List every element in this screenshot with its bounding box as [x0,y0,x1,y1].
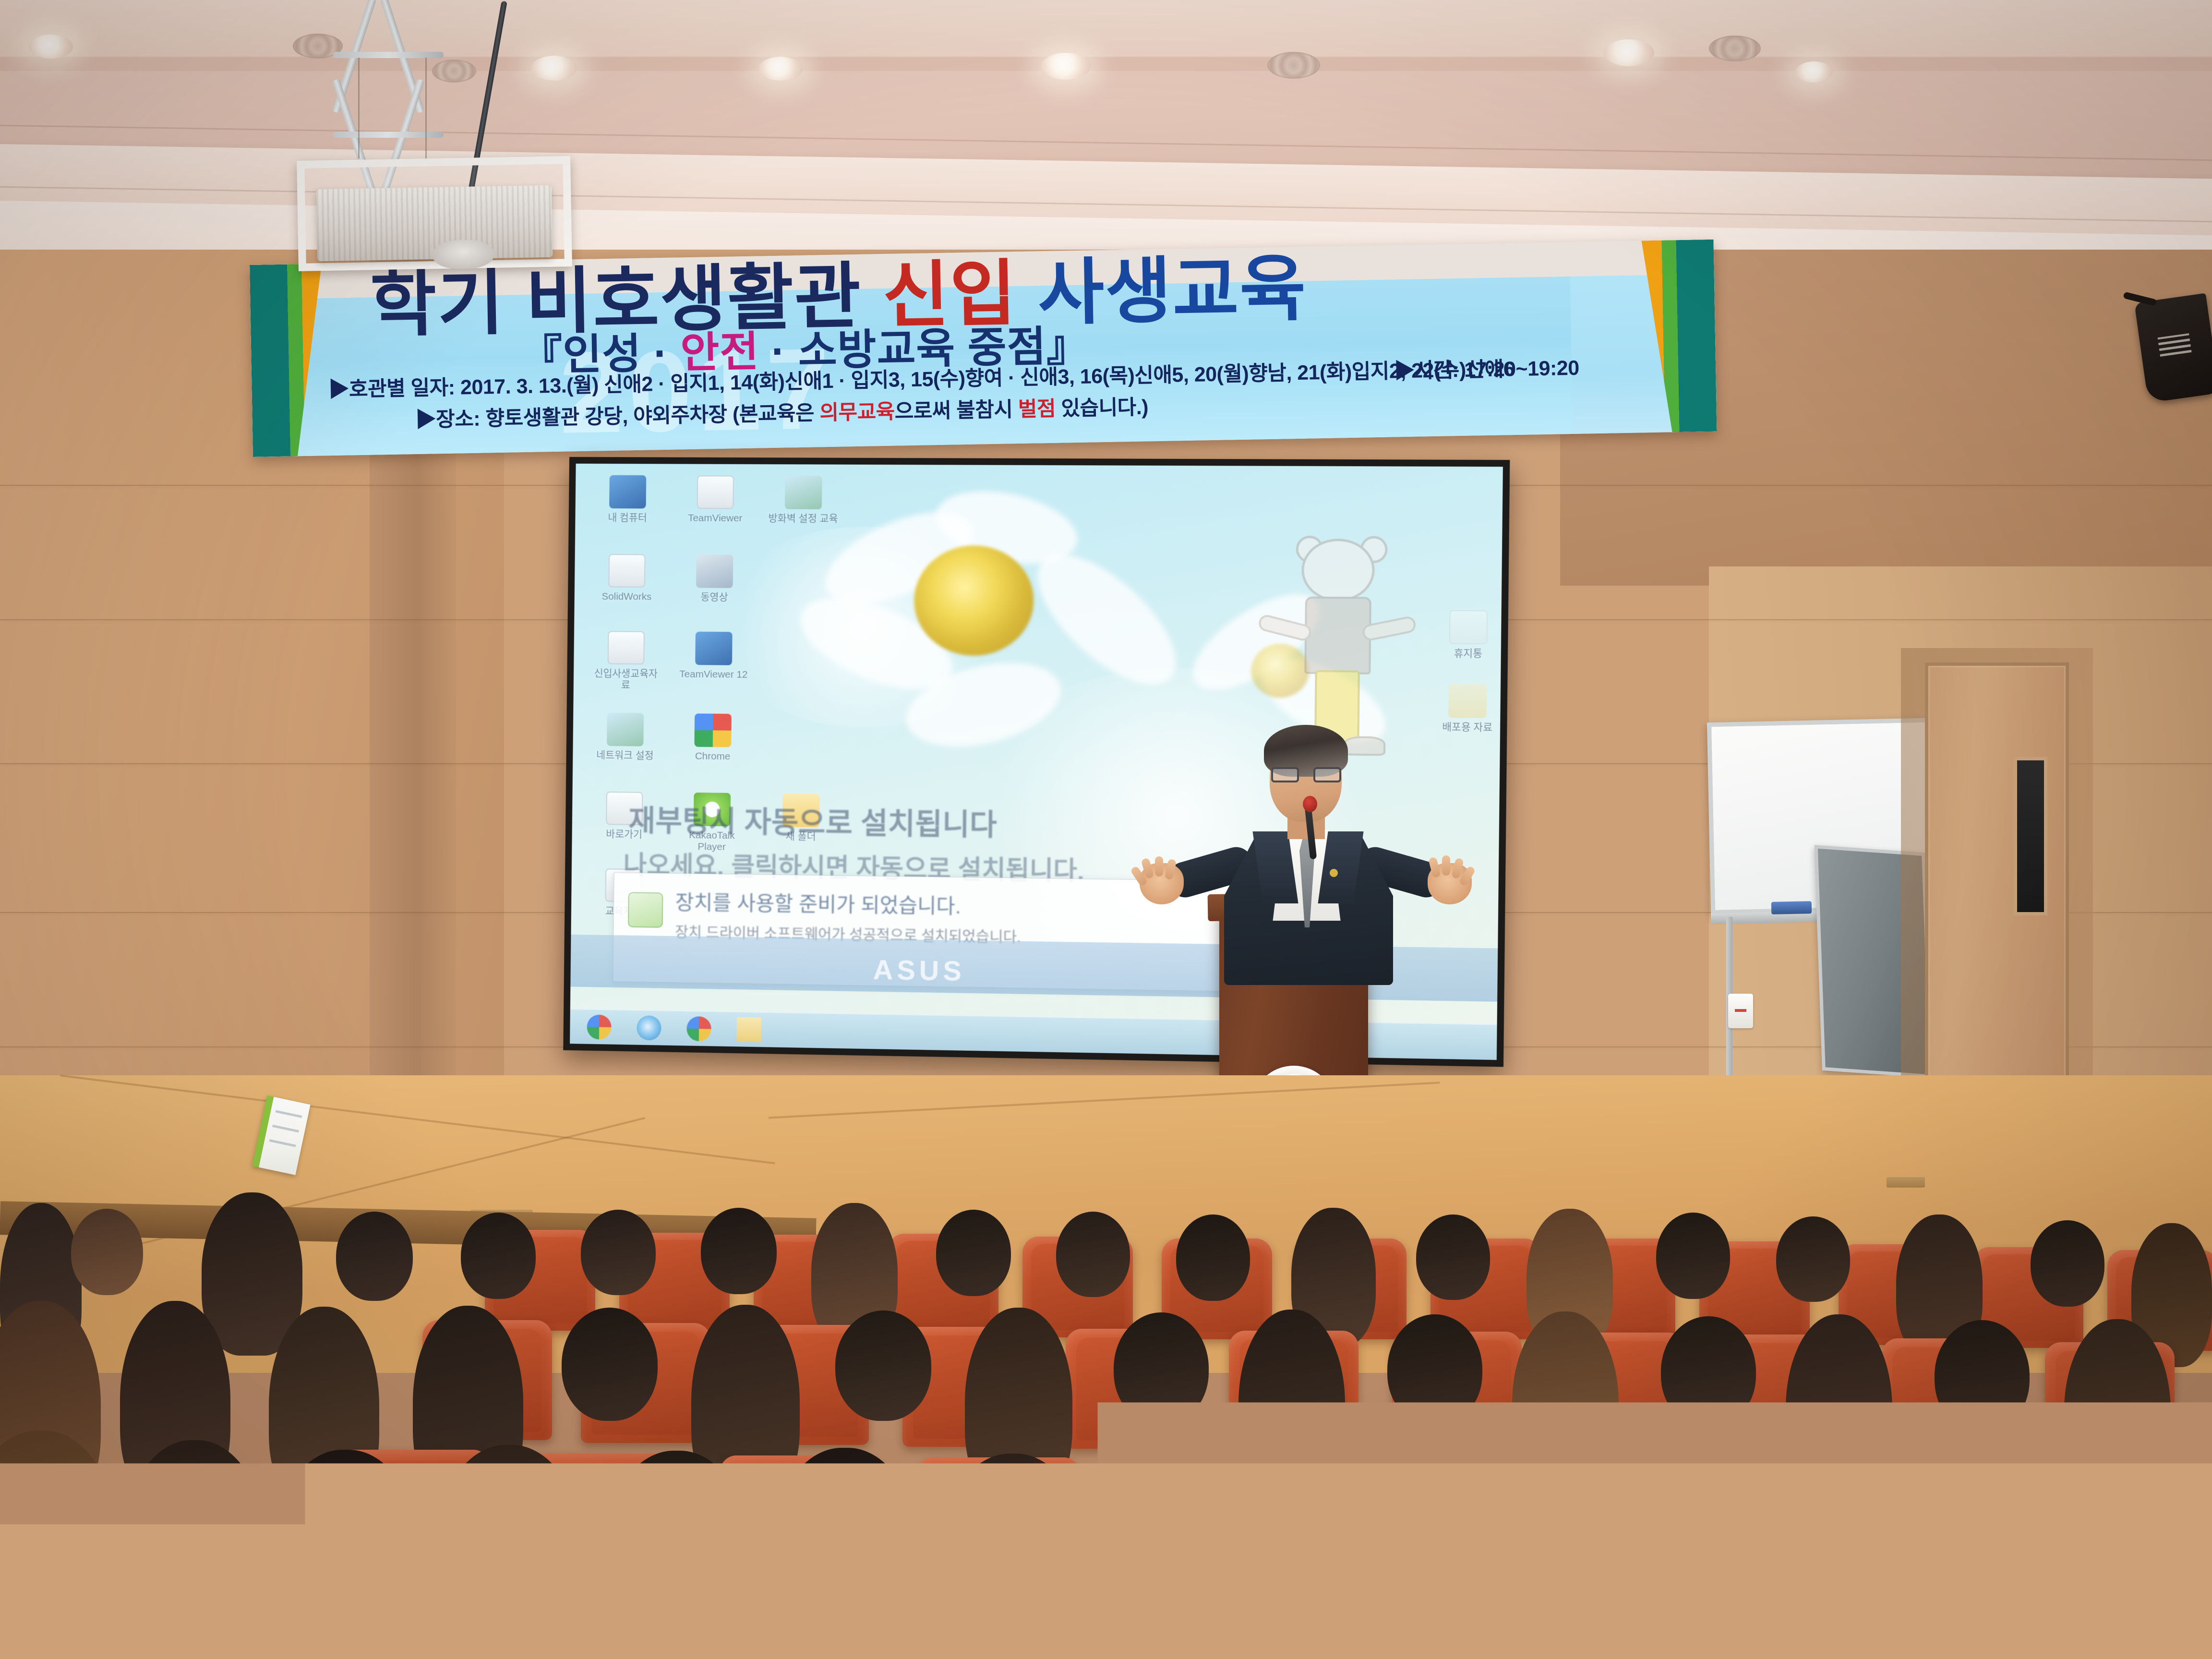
desktop-icon[interactable]: 방화벽 설정 교육 [768,476,839,525]
desktop-icon-label: 방화벽 설정 교육 [768,513,839,524]
downlight-icon [758,57,803,81]
start-orb-icon[interactable] [587,1014,611,1039]
audience-head [71,1209,143,1295]
recycle-bin-icon [1449,610,1488,644]
auditorium-photo: 2017 학기 비호생활관 신입 사생교육 『인성 · 안전 · 소방교육 중점… [0,0,2212,1659]
exit-door[interactable] [1925,662,2069,1094]
finger [1155,856,1163,877]
teamviewer12-icon [695,632,732,665]
place-red-penalty: 벌점 [1018,397,1056,421]
desktop-icon-label: Chrome [677,750,748,762]
desktop-icon-label: 신입사생교육자료 [590,668,661,691]
bear-body [1304,597,1371,674]
desktop-icon-label: 네트워크 설정 [589,749,660,761]
projector-lens-icon [432,240,494,269]
door-viewport-window [2014,757,2047,915]
audience-head [1176,1214,1250,1301]
audience-head [2031,1220,2104,1307]
chrome-taskbar-icon[interactable] [686,1016,711,1041]
glasses-lens [1271,767,1299,782]
brand-watermark: ASUS [873,954,965,987]
scissor-crossbar [333,132,444,138]
audience-head [701,1208,777,1294]
downlight-icon [1795,61,1833,83]
file-explorer-icon[interactable] [737,1017,762,1043]
audience-head [1114,1457,1243,1606]
desktop-icon-right[interactable]: 배포용 자료 [1431,684,1503,733]
event-banner: 2017 학기 비호생활관 신입 사생교육 『인성 · 안전 · 소방교육 중점… [250,240,1717,457]
desktop-icon[interactable]: 신입사생교육자료 [590,631,661,691]
air-diffuser-icon [1709,36,1761,61]
audience-head [936,1210,1011,1296]
desktop-icon[interactable]: 동영상 [679,554,750,603]
desktop-icon[interactable]: SolidWorks [591,554,662,602]
desktop-icon[interactable]: TeamViewer [680,475,751,524]
finger [1442,855,1450,876]
scissor-crossbar [333,52,444,58]
desktop-icon-label: 배포용 자료 [1431,721,1503,733]
wall-speaker-icon [2134,293,2212,403]
ceiling-band-shadow [0,57,2212,71]
bear-head [1301,539,1375,602]
internet-explorer-icon[interactable] [637,1015,661,1040]
desktop-icon[interactable]: 네트워크 설정 [589,712,661,761]
screen-headline: 재부팅시 자동으로 설치됩니다 [628,796,997,844]
presenter-hand-right [1428,863,1472,904]
audience-head [1935,1320,2030,1431]
suspension-wire [358,58,360,158]
audience-head [1056,1212,1130,1297]
network-settings-icon [607,713,644,746]
desktop-icon-label: 내 컴퓨터 [592,512,663,524]
downlight-icon [29,35,73,59]
audience-head [336,1212,413,1301]
place-red-mandatory: 의무교육 [819,400,895,425]
banner-time-line: ▶시간: 17:20~19:20 [1394,351,1579,385]
audience-head [1776,1216,1850,1302]
firewall-doc-icon [785,476,822,509]
audience-head [581,1210,656,1295]
place-suffix: 있습니다.) [1056,396,1149,420]
orientation-material-icon [608,631,645,664]
presenter-hand-left [1140,863,1184,904]
audience-head [461,1213,536,1299]
audience-head [1656,1213,1730,1299]
desktop-icon-right[interactable]: 휴지통 [1431,610,1503,660]
video-folder-icon [696,554,733,588]
my-computer-icon [609,475,646,509]
presenter-lapel-pin-icon [1330,869,1338,877]
light-switch[interactable] [1728,994,1753,1028]
dialog-device-icon [628,892,663,927]
desktop-icon-label: SolidWorks [591,591,662,602]
speaker-grille [2158,333,2192,357]
suspension-wire [425,58,427,158]
downlight-icon [1041,53,1091,80]
audience-head [562,1308,658,1421]
audience-head [1387,1314,1482,1425]
desktop-icon-label: 동영상 [679,591,750,603]
glasses-lens [1313,767,1341,782]
desktop-icon-label: TeamViewer [680,513,751,524]
presenter [1186,710,1435,1008]
desktop-icon[interactable]: 내 컴퓨터 [592,475,663,524]
desktop-icon-label: 휴지통 [1431,648,1503,660]
audience-head [1416,1214,1490,1300]
audience-head [1114,1312,1209,1424]
chrome-icon [694,713,731,747]
teamviewer-icon [697,475,734,509]
audience-area [0,1094,2212,1659]
downlight-icon [1603,39,1654,66]
audience-head [1661,1316,1756,1427]
daisy-center [914,545,1034,656]
solidworks-icon [608,554,645,588]
whiteboard-eraser-icon[interactable] [1771,901,1812,914]
air-diffuser-icon [1267,52,1320,79]
desktop-icon[interactable]: Chrome [677,713,749,762]
audience-head [835,1310,931,1421]
distribution-folder-icon [1448,684,1487,718]
desktop-icon[interactable]: TeamViewer 12 [678,632,749,681]
glasses-icon [1271,767,1342,783]
microphone-windscreen-icon [1303,796,1317,812]
desktop-icon-label: TeamViewer 12 [678,669,749,681]
place-mid: 으로써 불참시 [894,398,1018,423]
